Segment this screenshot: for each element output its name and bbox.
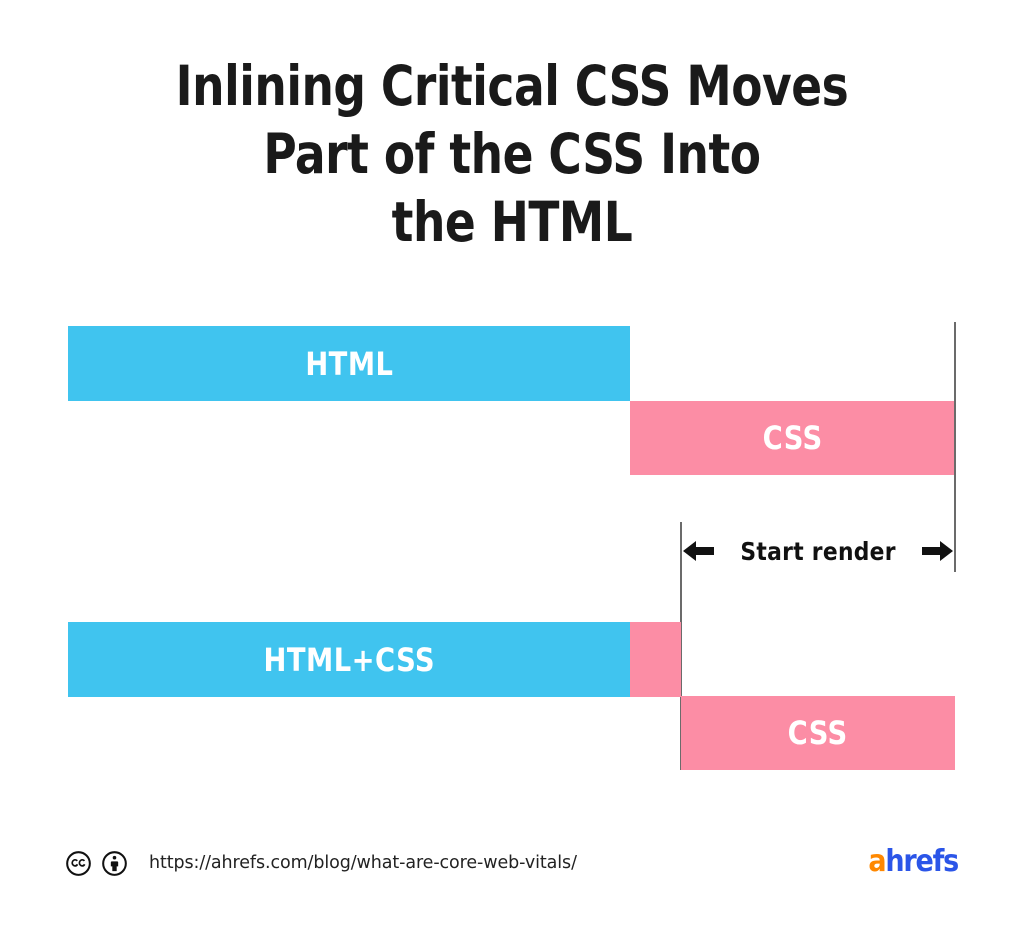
bar-html-css-label: HTML+CSS [263,641,435,679]
bar-html: HTML [68,326,630,401]
left-arrow-icon [681,538,715,564]
footer: https://ahrefs.com/blog/what-are-core-we… [0,840,1024,890]
attribution-icon [102,851,127,876]
bar-css-top-label: CSS [762,419,822,457]
bar-css-bottom: CSS [681,696,955,770]
start-render-label: Start render [740,537,895,566]
right-arrow-icon [921,538,955,564]
bar-css-bottom-label: CSS [788,714,848,752]
footer-attribution: https://ahrefs.com/blog/what-are-core-we… [66,840,577,886]
timeline-chart: HTML CSS Start render HTML+CSS CSS [0,0,1024,940]
creative-commons-icon [66,851,91,876]
bar-css-top: CSS [630,401,955,475]
infographic-canvas: Inlining Critical CSS Moves Part of the … [0,0,1024,940]
bar-html-label: HTML [305,345,393,383]
ahrefs-logo-rest: hrefs [885,844,958,879]
source-url[interactable]: https://ahrefs.com/blog/what-are-core-we… [149,853,577,873]
bar-html-css: HTML+CSS [68,622,630,697]
bar-inline-critical-css [630,622,681,697]
ahrefs-logo-a: a [868,844,885,879]
ahrefs-logo: ahrefs [868,844,958,880]
start-render-annotation: Start render [681,528,955,574]
